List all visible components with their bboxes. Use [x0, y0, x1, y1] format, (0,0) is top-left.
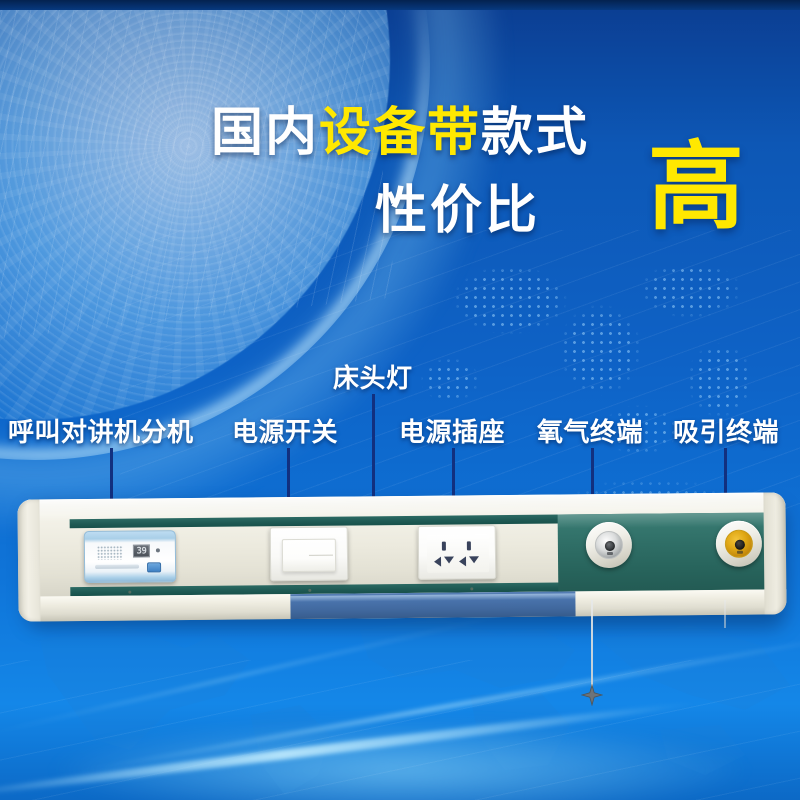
suction-terminal-marking [737, 551, 743, 554]
panel-screw-3 [470, 587, 473, 590]
socket-pin-live-left [442, 542, 446, 551]
cord-pendant-icon[interactable] [581, 684, 603, 706]
socket-pin-d [469, 556, 479, 563]
suction-terminal-port [735, 540, 745, 550]
oxygen-terminal-marking [607, 552, 613, 555]
oxygen-terminal-port [605, 541, 615, 551]
headline-part1: 国内 [211, 104, 319, 162]
bottom-thin-streaks [0, 660, 800, 800]
nurse-call-intercom[interactable]: 39 [84, 530, 176, 583]
panel-screw-1 [128, 591, 131, 594]
callout-label-suction-outlet: 吸引终端 [673, 412, 779, 449]
suction-terminal-face [725, 530, 753, 558]
headline-secondary: 性价比 [375, 168, 540, 243]
socket-pin-b [444, 557, 454, 564]
suction-pull-cord[interactable] [724, 600, 726, 628]
intercom-slot [95, 565, 139, 569]
speaker-grille-icon [97, 546, 123, 560]
callout-label-oxygen-outlet: 氧气终端 [537, 412, 643, 449]
poster-canvas: 国内设备带款式 性价比 高 呼叫对讲机分机 电源开关 床头灯 电源插座 氧气终端… [0, 0, 800, 800]
power-socket-plate[interactable] [418, 525, 497, 580]
oxygen-pull-cord[interactable] [591, 600, 593, 692]
socket-pin-c [459, 556, 466, 566]
socket-pin-live-right [467, 541, 471, 550]
panel-body: 39 [17, 492, 786, 621]
panel-end-cap-left [17, 499, 40, 621]
intercom-call-button[interactable] [147, 562, 161, 572]
oxygen-terminal[interactable] [586, 522, 632, 568]
top-dark-band [0, 0, 800, 10]
callout-label-bed-lamp: 床头灯 [333, 358, 413, 395]
rocker-seam [309, 555, 333, 556]
indicator-led-icon [156, 548, 160, 552]
callout-label-power-switch: 电源开关 [232, 412, 338, 449]
oxygen-terminal-face [595, 531, 623, 559]
suction-terminal[interactable] [716, 521, 762, 567]
headline-accent-char: 高 [648, 140, 744, 236]
bed-head-panel: 39 [18, 496, 788, 626]
callout-label-intercom: 呼叫对讲机分机 [8, 412, 194, 449]
socket-pin-a [434, 557, 441, 567]
socket-face [427, 534, 489, 573]
panel-screw-2 [308, 589, 311, 592]
intercom-display: 39 [133, 544, 150, 557]
headline-highlight: 设备带 [319, 104, 481, 162]
panel-end-cap-right [763, 492, 786, 614]
rocker-switch[interactable] [282, 539, 336, 573]
headline-part2: 款式 [481, 104, 589, 162]
power-switch-plate[interactable] [270, 527, 349, 582]
callout-label-power-socket: 电源插座 [399, 412, 505, 449]
